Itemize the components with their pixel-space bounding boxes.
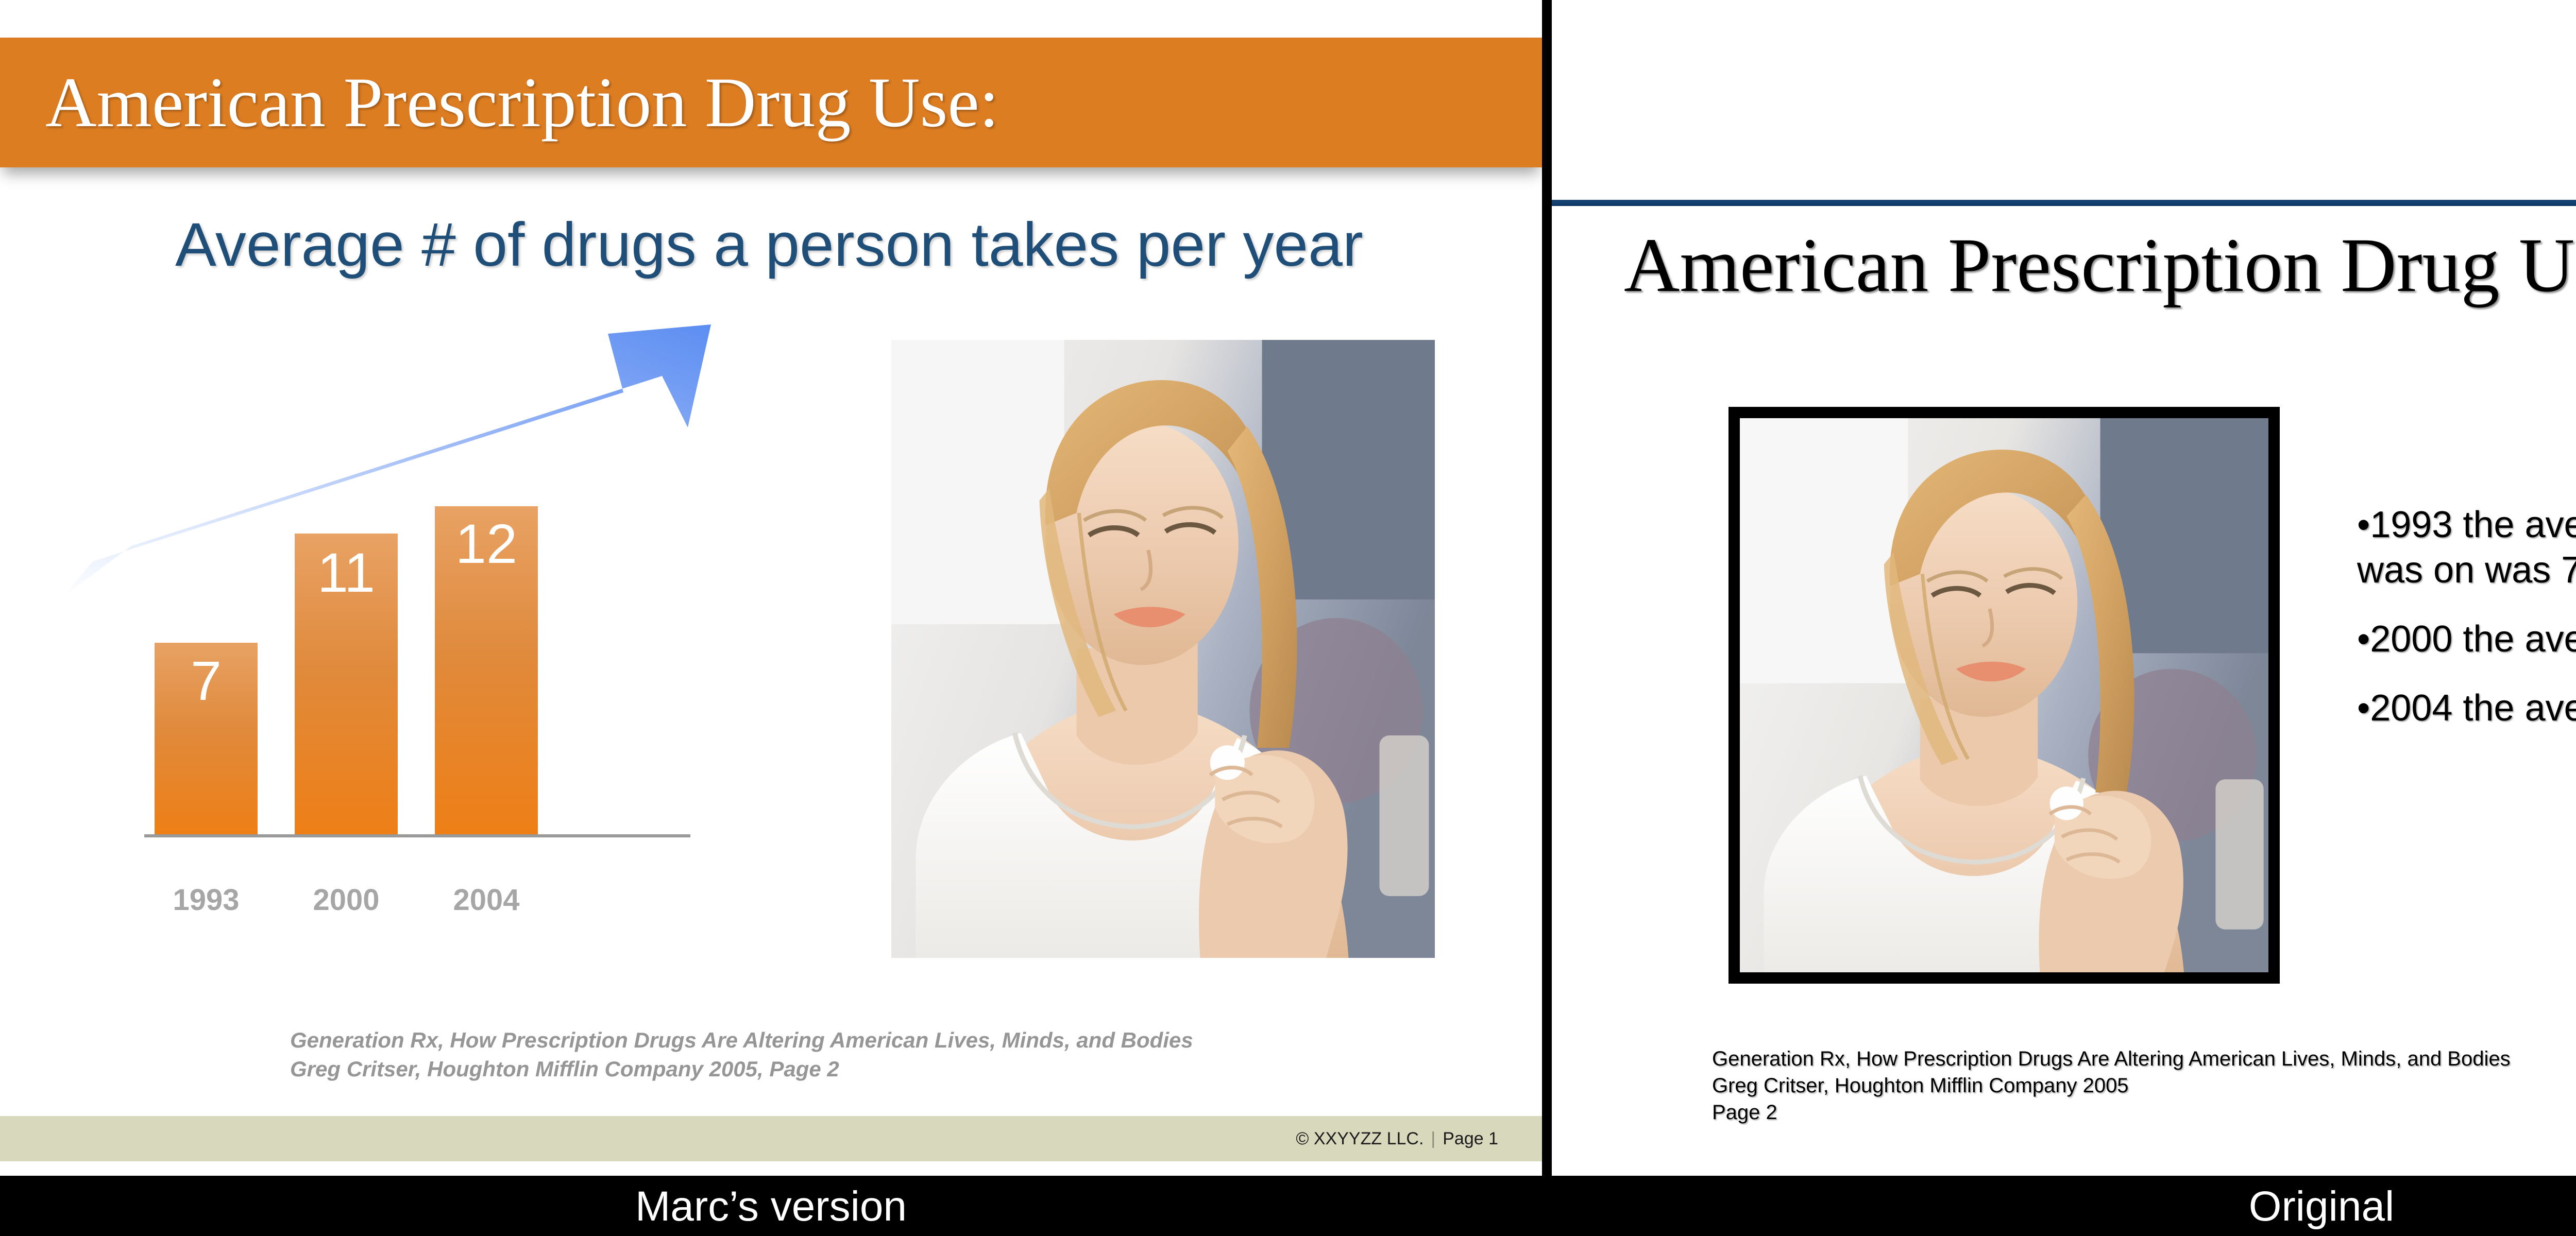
woman-holding-pill-photo-framed (1728, 407, 2280, 984)
bar-chart: 7 1993 11 2000 12 2004 (155, 484, 670, 881)
bullet-item: •1993 the average # of drugs a person wa… (2357, 502, 2576, 593)
bar-value-1993: 7 (155, 652, 258, 710)
bar-label-2004: 2004 (428, 884, 545, 917)
bar-label-1993: 1993 (147, 884, 265, 917)
right-citation-line-3: Page 2 (1712, 1099, 2511, 1126)
caption-original: Original (1552, 1182, 2576, 1231)
slide-comparison-root: American Prescription Drug Use: Average … (0, 0, 2576, 1236)
photo-inner (1740, 418, 2268, 972)
bar-label-2000: 2000 (287, 884, 405, 917)
right-citation: Generation Rx, How Prescription Drugs Ar… (1712, 1045, 2511, 1126)
left-slide-subtitle: Average # of drugs a person takes per ye… (175, 209, 1363, 281)
footer-copyright: © XXYYZZ LLC. (1296, 1129, 1423, 1148)
right-citation-line-2: Greg Critser, Houghton Mifflin Company 2… (1712, 1072, 2511, 1099)
right-citation-line-1: Generation Rx, How Prescription Drugs Ar… (1712, 1045, 2511, 1072)
left-citation-line-2: Greg Critser, Houghton Mifflin Company 2… (290, 1055, 1193, 1084)
bullet-item: •2000 the average went up to 11 (2357, 616, 2576, 662)
bar-value-2004: 12 (435, 515, 538, 573)
caption-bar: Marc’s version Original (0, 1176, 2576, 1236)
bar-value-2000: 11 (295, 544, 398, 602)
chart-baseline (144, 834, 690, 837)
slide-marcs-version: American Prescription Drug Use: Average … (0, 0, 1542, 1176)
panel-divider (1542, 0, 1552, 1176)
left-footer-band: © XXYYZZ LLC.|Page 1 (0, 1116, 1542, 1161)
left-citation-line-1: Generation Rx, How Prescription Drugs Ar… (290, 1026, 1193, 1055)
left-title-band: American Prescription Drug Use: (0, 38, 1542, 167)
right-title-rule (1552, 200, 2576, 206)
footer-separator: | (1423, 1129, 1443, 1148)
caption-marcs-version: Marc’s version (0, 1182, 1542, 1231)
left-footer-text: © XXYYZZ LLC.|Page 1 (1296, 1127, 1498, 1150)
bullet-item: •2004 the average went up to 12 (2357, 685, 2576, 731)
right-bullet-list: •1993 the average # of drugs a person wa… (2357, 502, 2576, 754)
left-citation: Generation Rx, How Prescription Drugs Ar… (290, 1026, 1193, 1084)
right-slide-title: American Prescription Drug Use: (1624, 221, 2576, 309)
left-slide-title: American Prescription Drug Use: (45, 63, 999, 142)
woman-holding-pill-photo (891, 340, 1435, 958)
footer-page: Page 1 (1443, 1129, 1498, 1148)
